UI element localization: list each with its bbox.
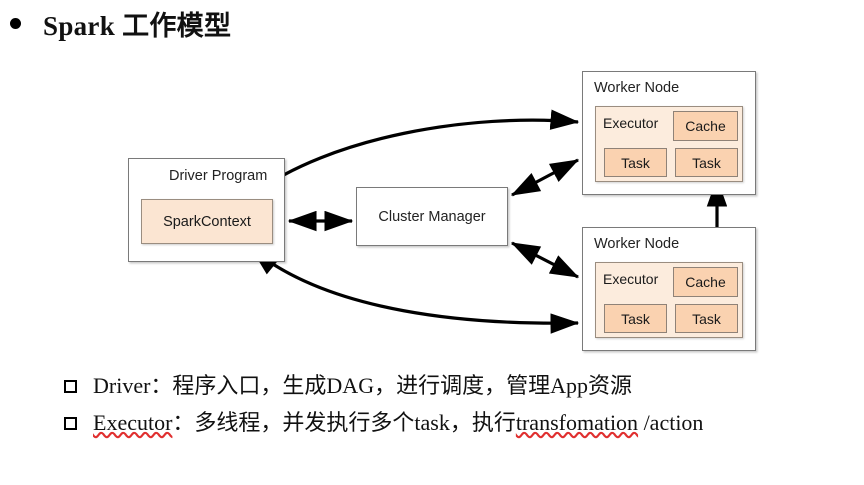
worker-node-label: Worker Node	[594, 80, 679, 96]
bullet-list: Driver：程序入口，生成DAG，进行调度，管理App资源 Executor：…	[64, 372, 864, 445]
bullet-text-executor: Executor：多线程，并发执行多个task，执行transfomation …	[93, 409, 703, 437]
sparkcontext-label: SparkContext	[163, 214, 251, 230]
arrow-cluster-manager-worker2	[512, 243, 578, 277]
task-box[interactable]: Task	[675, 304, 738, 333]
executor-label: Executor	[603, 271, 658, 287]
bullet-segment: ：多线程，并发执行多个task，执行	[172, 410, 515, 435]
bullet-segment: Driver：程序入口，生成DAG，进行调度，管理App资源	[93, 373, 632, 398]
misspelled-word: transfomation	[516, 410, 638, 435]
page-title-text: Spark 工作模型	[43, 4, 231, 43]
worker-node-label: Worker Node	[594, 236, 679, 252]
task-box[interactable]: Task	[675, 148, 738, 177]
cluster-manager-label: Cluster Manager	[378, 209, 485, 225]
bullet-segment: /action	[638, 410, 703, 435]
executor-label: Executor	[603, 115, 658, 131]
arrow-sparkcontext-worker2	[252, 249, 578, 323]
square-bullet-icon	[64, 380, 80, 396]
bullet-text-driver: Driver：程序入口，生成DAG，进行调度，管理App资源	[93, 372, 632, 400]
square-bullet-icon	[64, 417, 80, 433]
task-box[interactable]: Task	[604, 148, 667, 177]
cache-box[interactable]: Cache	[673, 267, 738, 297]
task-box[interactable]: Task	[604, 304, 667, 333]
cache-box[interactable]: Cache	[673, 111, 738, 141]
driver-program-box[interactable]: Driver Program SparkContext	[128, 158, 285, 262]
worker-node-box[interactable]: Worker Node Executor Cache Task Task	[582, 227, 756, 351]
spark-architecture-diagram: Driver Program SparkContext Cluster Mana…	[0, 55, 864, 365]
worker-node-box[interactable]: Worker Node Executor Cache Task Task	[582, 71, 756, 195]
misspelled-word: Executor	[93, 410, 172, 435]
slide-canvas: Spark 工作模型	[0, 0, 864, 485]
list-item: Executor：多线程，并发执行多个task，执行transfomation …	[64, 409, 864, 437]
driver-program-label: Driver Program	[169, 168, 267, 184]
cluster-manager-box[interactable]: Cluster Manager	[356, 187, 508, 246]
page-title: Spark 工作模型	[10, 4, 231, 43]
arrow-cluster-manager-worker1	[512, 160, 578, 195]
executor-box[interactable]: Executor Cache Task Task	[595, 262, 743, 338]
list-item: Driver：程序入口，生成DAG，进行调度，管理App资源	[64, 372, 864, 400]
arrow-sparkcontext-worker1	[252, 120, 578, 195]
executor-box[interactable]: Executor Cache Task Task	[595, 106, 743, 182]
disc-bullet-icon	[10, 18, 21, 29]
sparkcontext-box[interactable]: SparkContext	[141, 199, 273, 244]
